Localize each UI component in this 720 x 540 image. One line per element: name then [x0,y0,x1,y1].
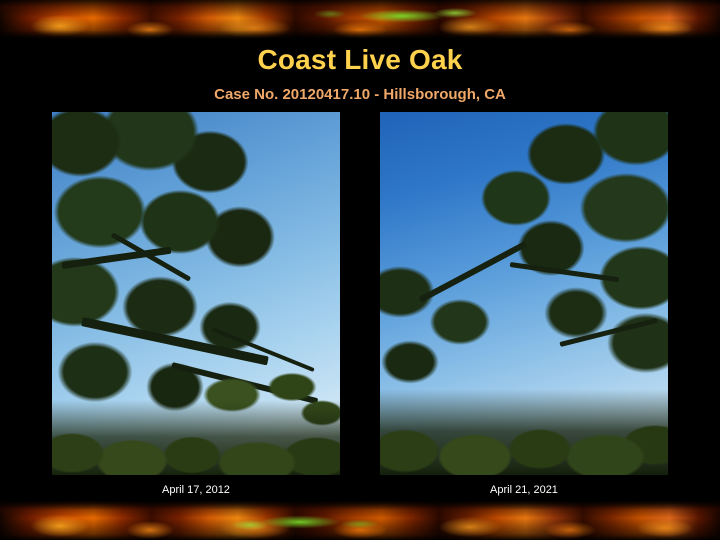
band-fade [0,500,720,510]
photo-block-2012: April 17, 2012 [52,112,340,475]
flame-border-top [0,0,720,40]
photo-caption-2012: April 17, 2012 [52,484,340,496]
photo-caption-2021: April 21, 2021 [380,484,668,496]
photo-comparison: April 17, 2012 April 21, 2021 [0,112,720,482]
flame-border-bottom [0,500,720,540]
page-title: Coast Live Oak [0,44,720,76]
photo-2012 [52,112,340,475]
band-fade [0,30,720,40]
understory-foliage [52,375,340,475]
photo-block-2021: April 21, 2021 [380,112,668,475]
slide: Coast Live Oak Case No. 20120417.10 - Hi… [0,0,720,540]
photo-2021 [380,112,668,475]
page-subtitle: Case No. 20120417.10 - Hillsborough, CA [0,86,720,103]
understory-foliage [380,365,668,475]
